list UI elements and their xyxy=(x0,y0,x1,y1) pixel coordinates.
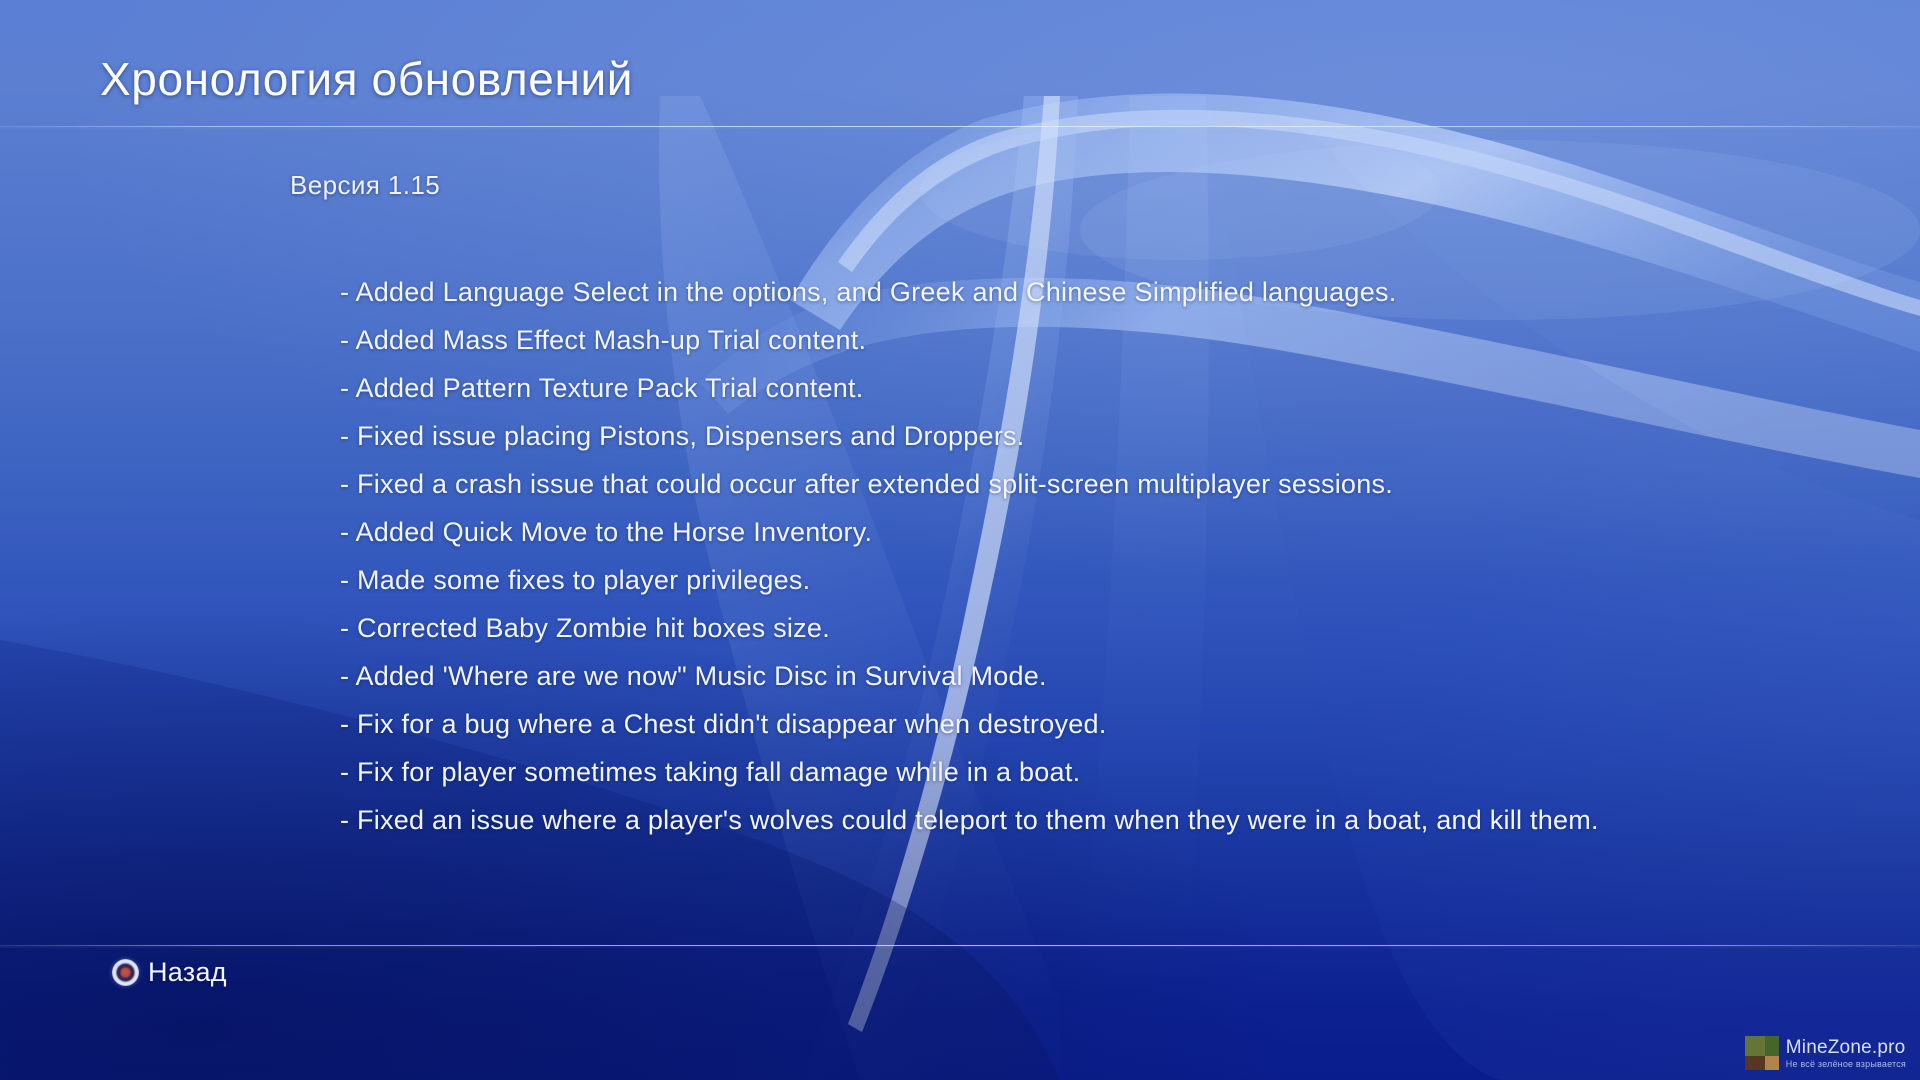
minezone-logo-icon xyxy=(1745,1036,1779,1070)
list-item: - Made some fixes to player privileges. xyxy=(340,556,1690,604)
circle-button-icon xyxy=(112,959,139,986)
watermark-text: MineZone.pro Не всё зелёное взрывается xyxy=(1786,1038,1906,1069)
back-button-label: Назад xyxy=(148,957,227,988)
watermark: MineZone.pro Не всё зелёное взрывается xyxy=(1745,1036,1906,1070)
logo-square-3 xyxy=(1745,1056,1765,1070)
watermark-site-name: MineZone.pro xyxy=(1786,1038,1906,1057)
watermark-tagline: Не всё зелёное взрывается xyxy=(1786,1060,1906,1069)
header-divider xyxy=(0,126,1920,127)
page-title: Хронология обновлений xyxy=(100,52,633,106)
logo-square-2 xyxy=(1765,1036,1779,1056)
list-item: - Fixed an issue where a player's wolves… xyxy=(340,796,1690,844)
back-button[interactable]: Назад xyxy=(112,957,227,988)
list-item: - Fixed a crash issue that could occur a… xyxy=(340,460,1690,508)
header: Хронология обновлений xyxy=(0,0,1920,127)
list-item: - Added Mass Effect Mash-up Trial conten… xyxy=(340,316,1690,364)
ps4-update-history-screen: Хронология обновлений Версия 1.15 - Adde… xyxy=(0,0,1920,1080)
footer-divider xyxy=(0,945,1920,946)
list-item: - Added Language Select in the options, … xyxy=(340,268,1690,316)
list-item: - Added Pattern Texture Pack Trial conte… xyxy=(340,364,1690,412)
list-item: - Corrected Baby Zombie hit boxes size. xyxy=(340,604,1690,652)
list-item: - Fix for a bug where a Chest didn't dis… xyxy=(340,700,1690,748)
list-item: - Added Quick Move to the Horse Inventor… xyxy=(340,508,1690,556)
list-item: - Added 'Where are we now" Music Disc in… xyxy=(340,652,1690,700)
patch-notes-list: - Added Language Select in the options, … xyxy=(340,268,1690,844)
logo-square-4 xyxy=(1765,1056,1779,1070)
list-item: - Fixed issue placing Pistons, Dispenser… xyxy=(340,412,1690,460)
version-label: Версия 1.15 xyxy=(290,170,440,201)
list-item: - Fix for player sometimes taking fall d… xyxy=(340,748,1690,796)
logo-square-1 xyxy=(1745,1036,1765,1056)
